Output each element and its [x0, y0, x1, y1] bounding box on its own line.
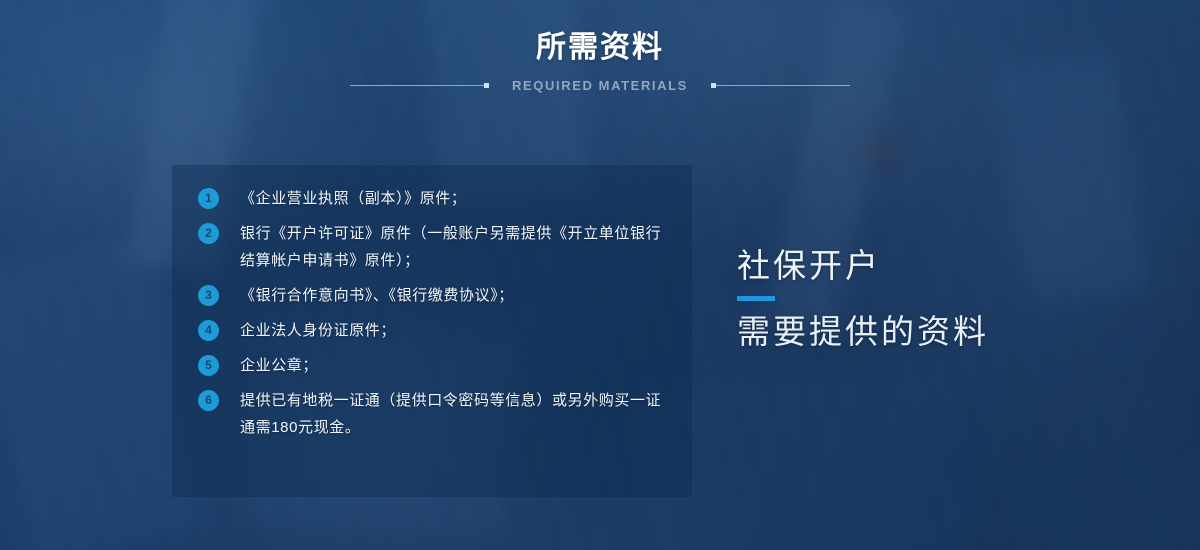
list-item-text: 企业公章；	[240, 352, 668, 379]
list-item: 2 银行《开户许可证》原件（一般账户另需提供《开立单位银行结算帐户申请书》原件）…	[198, 220, 668, 274]
list-item: 4 企业法人身份证原件；	[198, 317, 668, 344]
list-number-badge: 3	[198, 285, 219, 306]
list-item: 1 《企业营业执照（副本）》原件；	[198, 185, 668, 212]
promotional-banner: 所需资料 REQUIRED MATERIALS 1 《企业营业执照（副本）》原件…	[0, 0, 1200, 550]
headline-accent-bar	[737, 296, 775, 301]
list-item-text: 企业法人身份证原件；	[240, 317, 668, 344]
list-number-badge: 6	[198, 390, 219, 411]
headline-sub-text: 需要提供的资料	[737, 311, 1157, 353]
list-number-badge: 2	[198, 223, 219, 244]
banner-header: 所需资料 REQUIRED MATERIALS	[0, 30, 1200, 95]
materials-list: 1 《企业营业执照（副本）》原件； 2 银行《开户许可证》原件（一般账户另需提供…	[198, 185, 668, 441]
list-number-badge: 5	[198, 355, 219, 376]
list-item: 6 提供已有地税一证通（提供口令密码等信息）或另外购买一证通需180元现金。	[198, 387, 668, 441]
divider-line-left	[350, 85, 488, 86]
list-item-text: 《企业营业执照（副本）》原件；	[240, 185, 668, 212]
list-number-badge: 4	[198, 320, 219, 341]
list-item: 5 企业公章；	[198, 352, 668, 379]
list-item: 3 《银行合作意向书》、《银行缴费协议》；	[198, 282, 668, 309]
list-item-text: 提供已有地税一证通（提供口令密码等信息）或另外购买一证通需180元现金。	[240, 387, 668, 441]
list-item-text: 银行《开户许可证》原件（一般账户另需提供《开立单位银行结算帐户申请书》原件）；	[240, 220, 668, 274]
list-item-text: 《银行合作意向书》、《银行缴费协议》；	[240, 282, 668, 309]
subtitle-row: REQUIRED MATERIALS	[0, 75, 1200, 95]
headline-main-text: 社保开户	[737, 245, 1157, 287]
page-subtitle: REQUIRED MATERIALS	[488, 78, 712, 93]
headline-block: 社保开户 需要提供的资料	[737, 245, 1157, 353]
list-number-badge: 1	[198, 188, 219, 209]
page-title: 所需资料	[0, 30, 1200, 66]
divider-line-right	[712, 85, 850, 86]
materials-panel: 1 《企业营业执照（副本）》原件； 2 银行《开户许可证》原件（一般账户另需提供…	[172, 165, 692, 497]
